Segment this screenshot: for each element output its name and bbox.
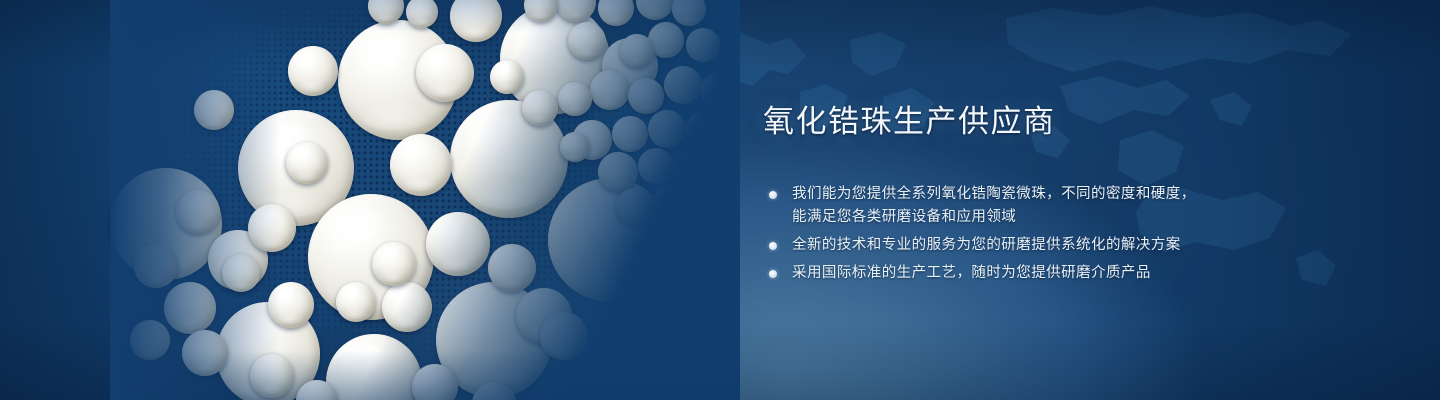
bead	[616, 188, 654, 226]
list-item-line-1: 全新的技术和专业的服务为您的研磨提供系统化的解决方案	[792, 237, 1181, 253]
bead	[612, 116, 648, 152]
banner-copy: 氧化锆珠生产供应商 我们能为您提供全系列氧化锆陶瓷微珠，不同的密度和硬度， 能满…	[763, 104, 1323, 290]
bead	[248, 204, 296, 252]
feature-list: 我们能为您提供全系列氧化锆陶瓷微珠，不同的密度和硬度， 能满足您各类研磨设备和应…	[763, 183, 1323, 285]
bead	[416, 44, 474, 102]
bead	[654, 184, 686, 216]
bead	[636, 0, 674, 20]
bead	[648, 110, 686, 148]
bead	[598, 152, 638, 192]
bead	[620, 34, 654, 68]
bead	[558, 82, 592, 116]
list-item-line-2: 能满足您各类研磨设备和应用领域	[792, 206, 1323, 229]
bullet-dot-icon	[769, 242, 777, 250]
bead	[568, 22, 606, 60]
bead	[130, 320, 170, 360]
bead	[194, 90, 234, 130]
bead	[522, 90, 558, 126]
bead	[176, 190, 220, 234]
bead	[560, 132, 590, 162]
bead	[590, 70, 630, 110]
bead	[336, 282, 376, 322]
bead	[406, 0, 438, 28]
list-item: 采用国际标准的生产工艺，随时为您提供研磨介质产品	[763, 262, 1323, 285]
bead	[326, 334, 422, 400]
bead	[450, 0, 502, 42]
bead	[664, 66, 702, 104]
bead	[390, 134, 452, 196]
banner-headline: 氧化锆珠生产供应商	[763, 104, 1323, 141]
bead-cluster	[120, 0, 740, 400]
bead	[288, 46, 338, 96]
bead	[182, 330, 228, 376]
bullet-dot-icon	[769, 270, 777, 278]
hero-banner: 氧化锆珠生产供应商 我们能为您提供全系列氧化锆陶瓷微珠，不同的密度和硬度， 能满…	[0, 0, 1440, 400]
bead	[672, 0, 706, 26]
list-item-line-1: 我们能为您提供全系列氧化锆陶瓷微珠，不同的密度和硬度，	[792, 186, 1196, 202]
bead	[372, 242, 416, 286]
bead	[674, 150, 706, 182]
bead	[686, 112, 720, 146]
list-item: 全新的技术和专业的服务为您的研磨提供系统化的解决方案	[763, 234, 1323, 257]
bead	[628, 78, 664, 114]
bead	[286, 142, 328, 184]
bead	[638, 148, 674, 184]
bead	[222, 254, 260, 292]
zirconia-beads-photo	[120, 0, 740, 400]
bead	[598, 0, 634, 26]
bead	[268, 282, 314, 328]
list-item-line-1: 采用国际标准的生产工艺，随时为您提供研磨介质产品	[792, 265, 1151, 281]
bead	[250, 354, 294, 398]
list-item: 我们能为您提供全系列氧化锆陶瓷微珠，不同的密度和硬度， 能满足您各类研磨设备和应…	[763, 183, 1323, 229]
bullet-dot-icon	[769, 191, 777, 199]
bead	[134, 244, 178, 288]
bead	[426, 212, 490, 276]
bead	[686, 28, 720, 62]
bead	[700, 74, 732, 106]
bead	[490, 60, 524, 94]
bead	[164, 282, 216, 334]
bead	[488, 244, 536, 292]
bead	[540, 312, 588, 360]
bead	[382, 282, 432, 332]
